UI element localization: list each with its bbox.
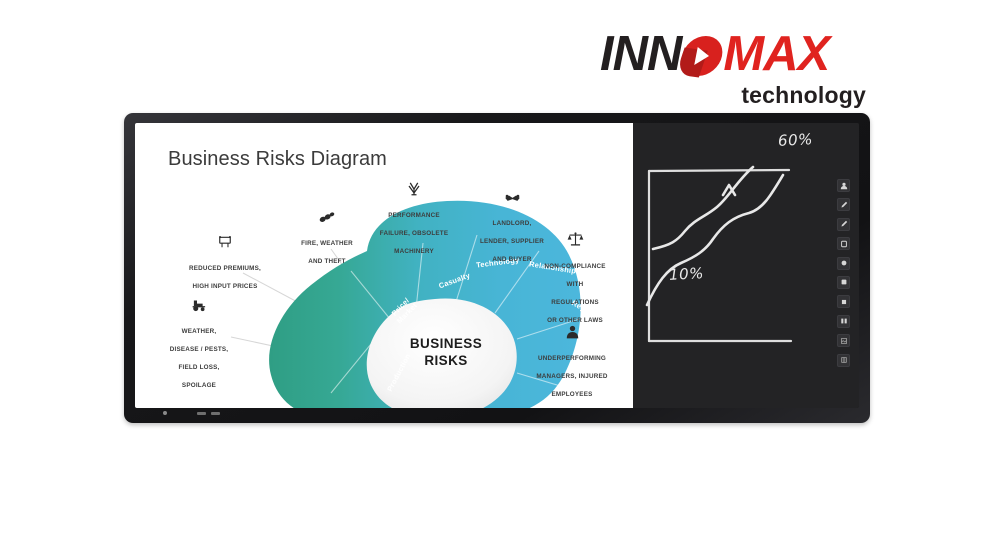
logo-text-inn: INN [600, 28, 681, 80]
callout-text: WEATHER, DISEASE / PESTS, FIELD LOSS, SP… [170, 328, 229, 389]
callout-performance-failure: PERFORMANCE FAILURE, OBSOLETE MACHINERY [359, 181, 469, 258]
bezel-button-2[interactable] [211, 412, 220, 415]
logo-wordmark: INN MAX [600, 28, 870, 80]
handshake-icon [462, 191, 562, 209]
core-line-2: RISKS [424, 353, 467, 368]
logo-text-max: MAX [723, 28, 829, 80]
callout-weather-disease: WEATHER, DISEASE / PESTS, FIELD LOSS, SP… [147, 299, 251, 392]
square-tool[interactable] [837, 276, 850, 289]
bezel-button-1[interactable] [197, 412, 206, 415]
shape-tool[interactable] [837, 295, 850, 308]
eraser-tool[interactable] [837, 237, 850, 250]
logo-tagline: technology [600, 82, 870, 109]
image-tool[interactable] [837, 334, 850, 347]
presentation-slide[interactable]: Business Risks Diagram [135, 123, 633, 408]
logo-o-play-icon [679, 36, 727, 76]
callout-text: UNDERPERFORMING MANAGERS, INJURED EMPLOY… [536, 355, 607, 398]
employee-icon [520, 325, 624, 344]
select-tool[interactable] [837, 179, 850, 192]
device-bottom-bezel [135, 408, 859, 419]
handdrawn-chart-sketch [633, 123, 859, 408]
interactive-display-device: Business Risks Diagram [124, 113, 870, 423]
whiteboard-canvas[interactable]: 60% 10% [633, 123, 859, 408]
billboard-icon [169, 235, 281, 254]
antenna-icon [359, 181, 469, 201]
brand-logo: INN MAX technology [600, 28, 870, 108]
marker-tool[interactable] [837, 218, 850, 231]
callout-underperforming-managers: UNDERPERFORMING MANAGERS, INJURED EMPLOY… [520, 325, 624, 401]
chart-label-high: 60% [778, 130, 814, 150]
scales-icon [525, 231, 625, 252]
circle-tool[interactable] [837, 257, 850, 270]
callout-text: NON-COMPLIANCE WITH REGULATIONS OR OTHER… [544, 263, 605, 324]
callout-non-compliance: NON-COMPLIANCE WITH REGULATIONS OR OTHER… [525, 231, 625, 327]
pen-tool[interactable] [837, 198, 850, 211]
display-screen: Business Risks Diagram [135, 123, 859, 408]
chart-label-low: 10% [669, 264, 705, 284]
settings-tool[interactable] [837, 354, 850, 367]
whiteboard-toolbar[interactable] [837, 179, 850, 367]
power-led-indicator [163, 411, 167, 415]
callout-text: PERFORMANCE FAILURE, OBSOLETE MACHINERY [380, 212, 448, 255]
callout-text: REDUCED PREMIUMS, HIGH INPUT PRICES [189, 265, 261, 290]
tractor-icon [147, 299, 251, 317]
callout-text: FIRE, WEATHER AND THEFT [301, 240, 353, 265]
core-line-1: BUSINESS [410, 336, 482, 351]
grid-tool[interactable] [837, 315, 850, 328]
callout-reduced-premiums: REDUCED PREMIUMS, HIGH INPUT PRICES [169, 235, 281, 293]
core-label: BUSINESS RISKS [386, 335, 506, 369]
